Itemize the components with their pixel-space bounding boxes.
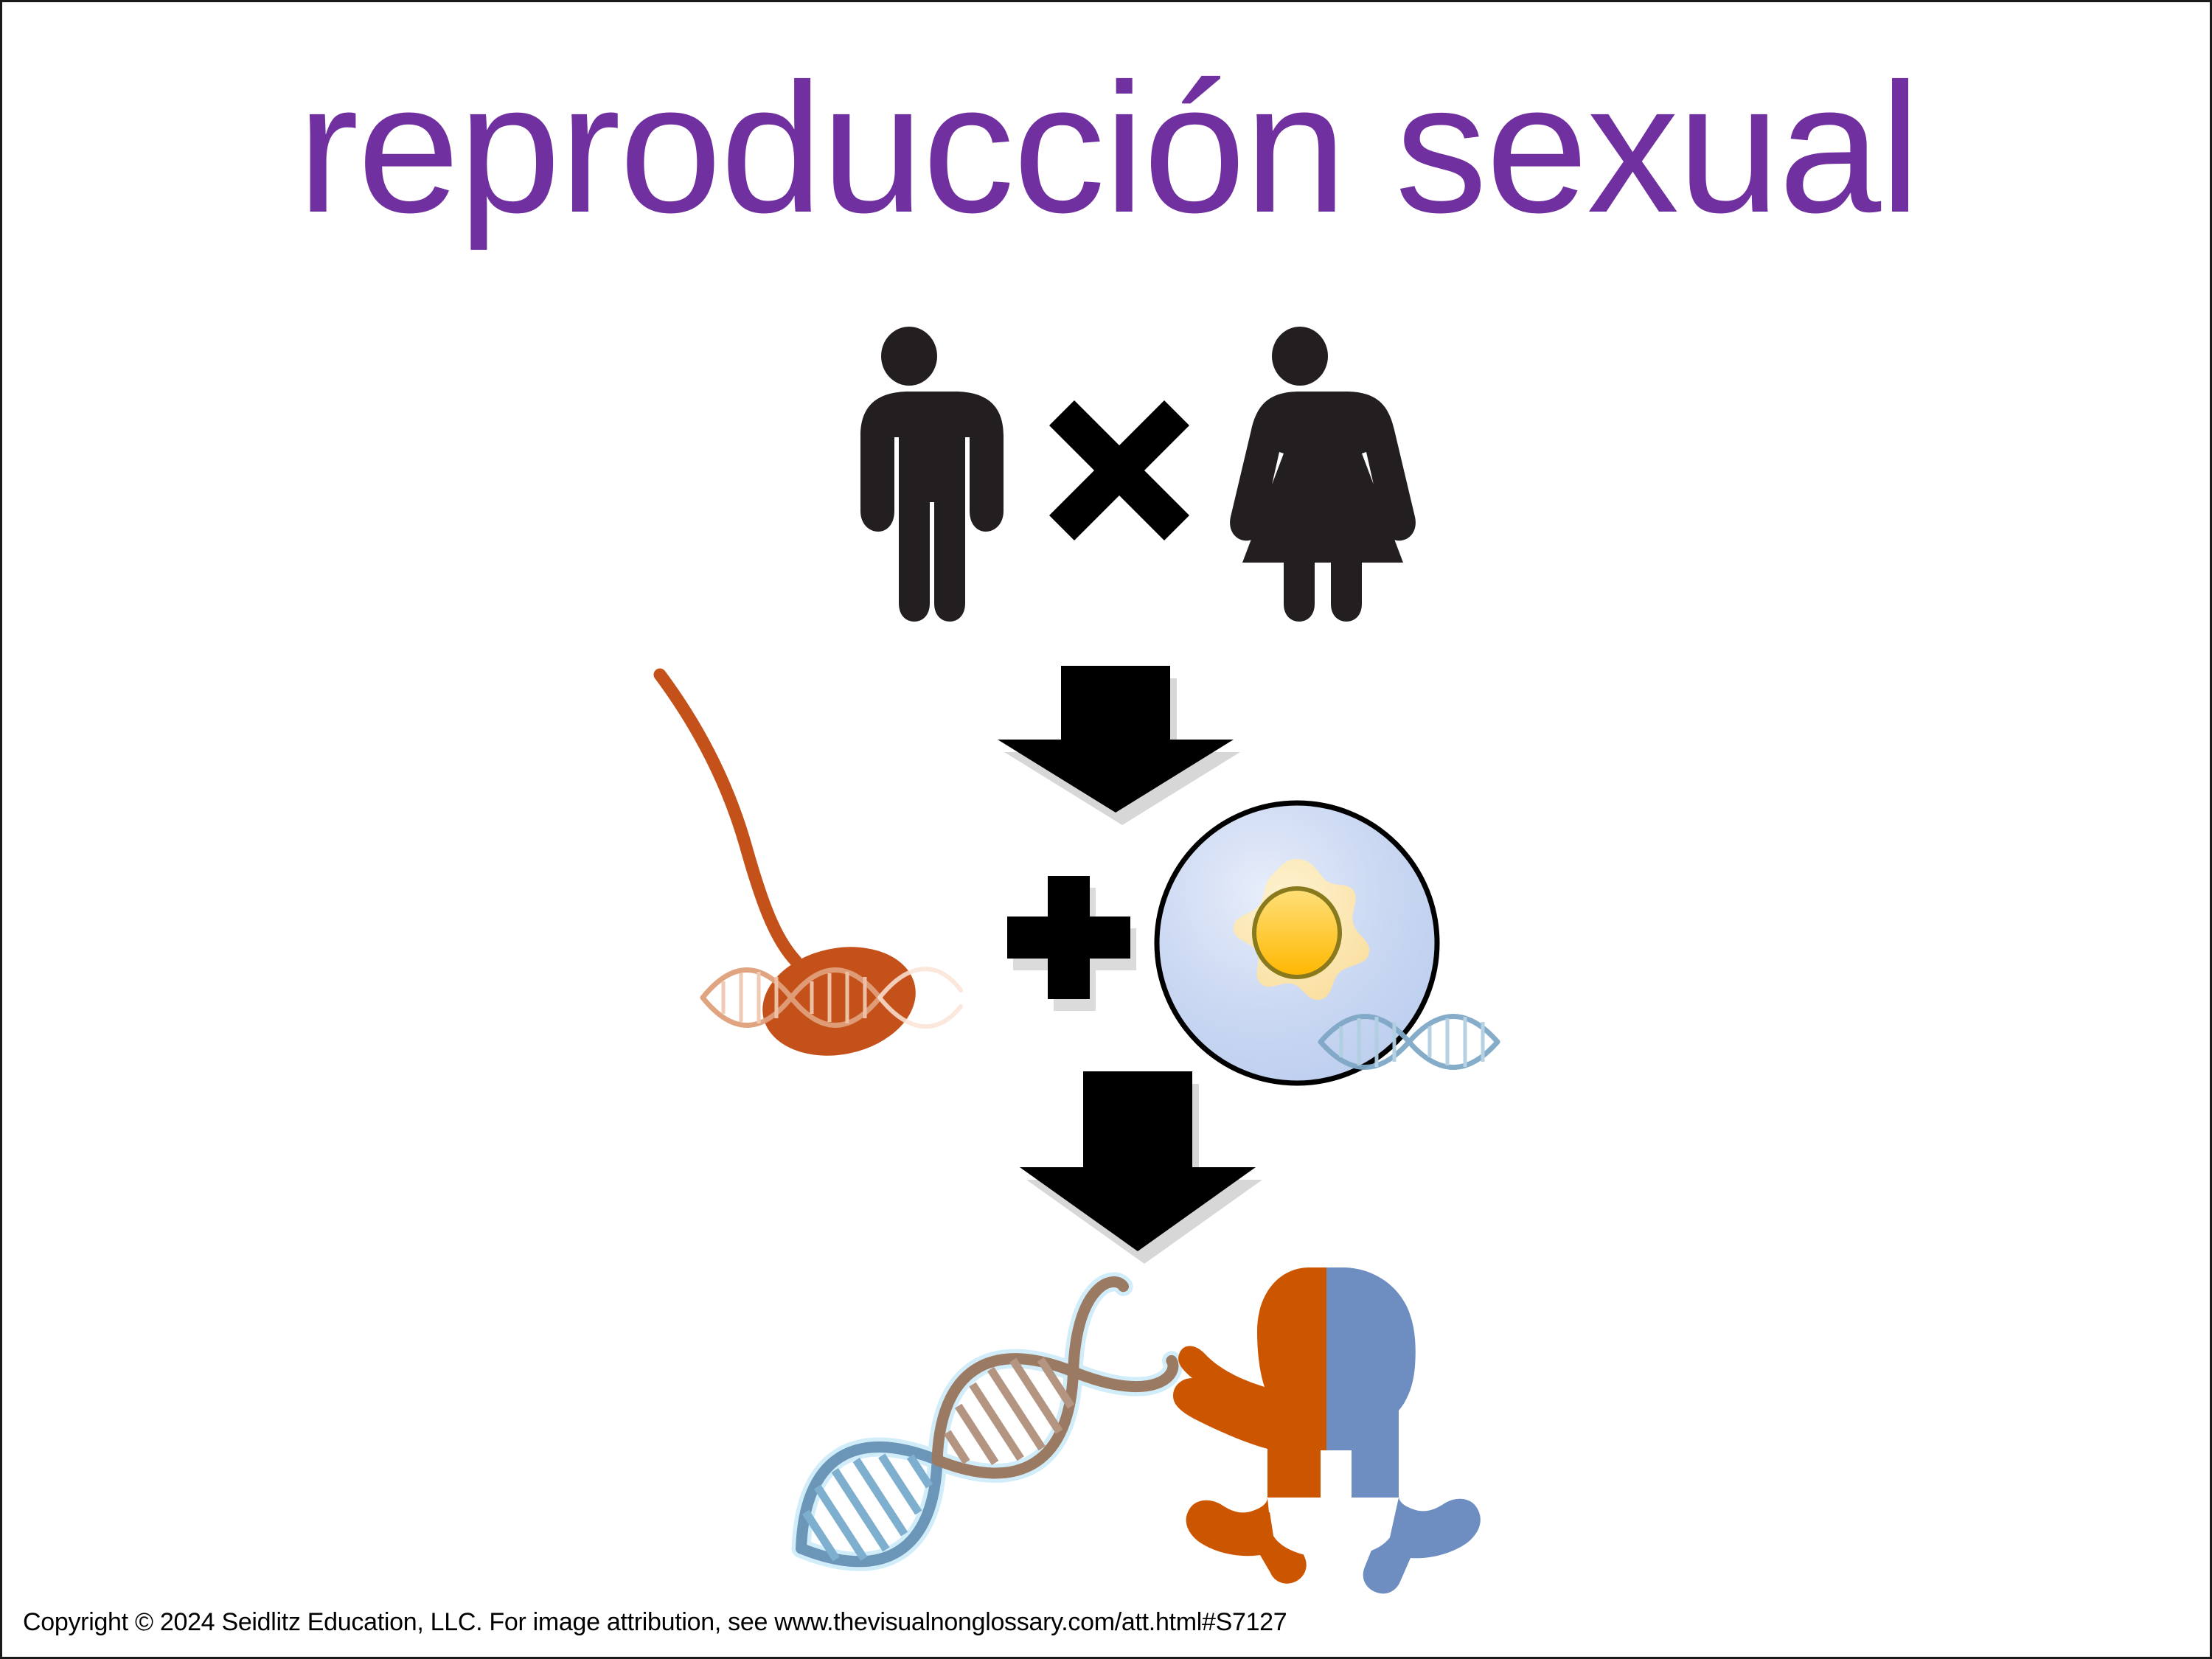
down-arrow-2-icon <box>1012 1071 1263 1263</box>
baby-figure-icon <box>1130 1263 1543 1602</box>
sperm-cell-icon <box>651 666 1020 1049</box>
female-figure-icon <box>1230 327 1416 622</box>
recombined-dna-icon <box>740 1285 1197 1595</box>
diagram-stage <box>2 2 2212 1659</box>
male-figure-icon <box>860 327 1004 622</box>
slide-canvas: reproducción sexual <box>0 0 2212 1659</box>
copyright-footer: Copyright © 2024 Seidlitz Education, LLC… <box>23 1608 1287 1637</box>
plus-sign-icon <box>1001 876 1130 1005</box>
multiplication-cross-icon <box>1049 400 1189 540</box>
